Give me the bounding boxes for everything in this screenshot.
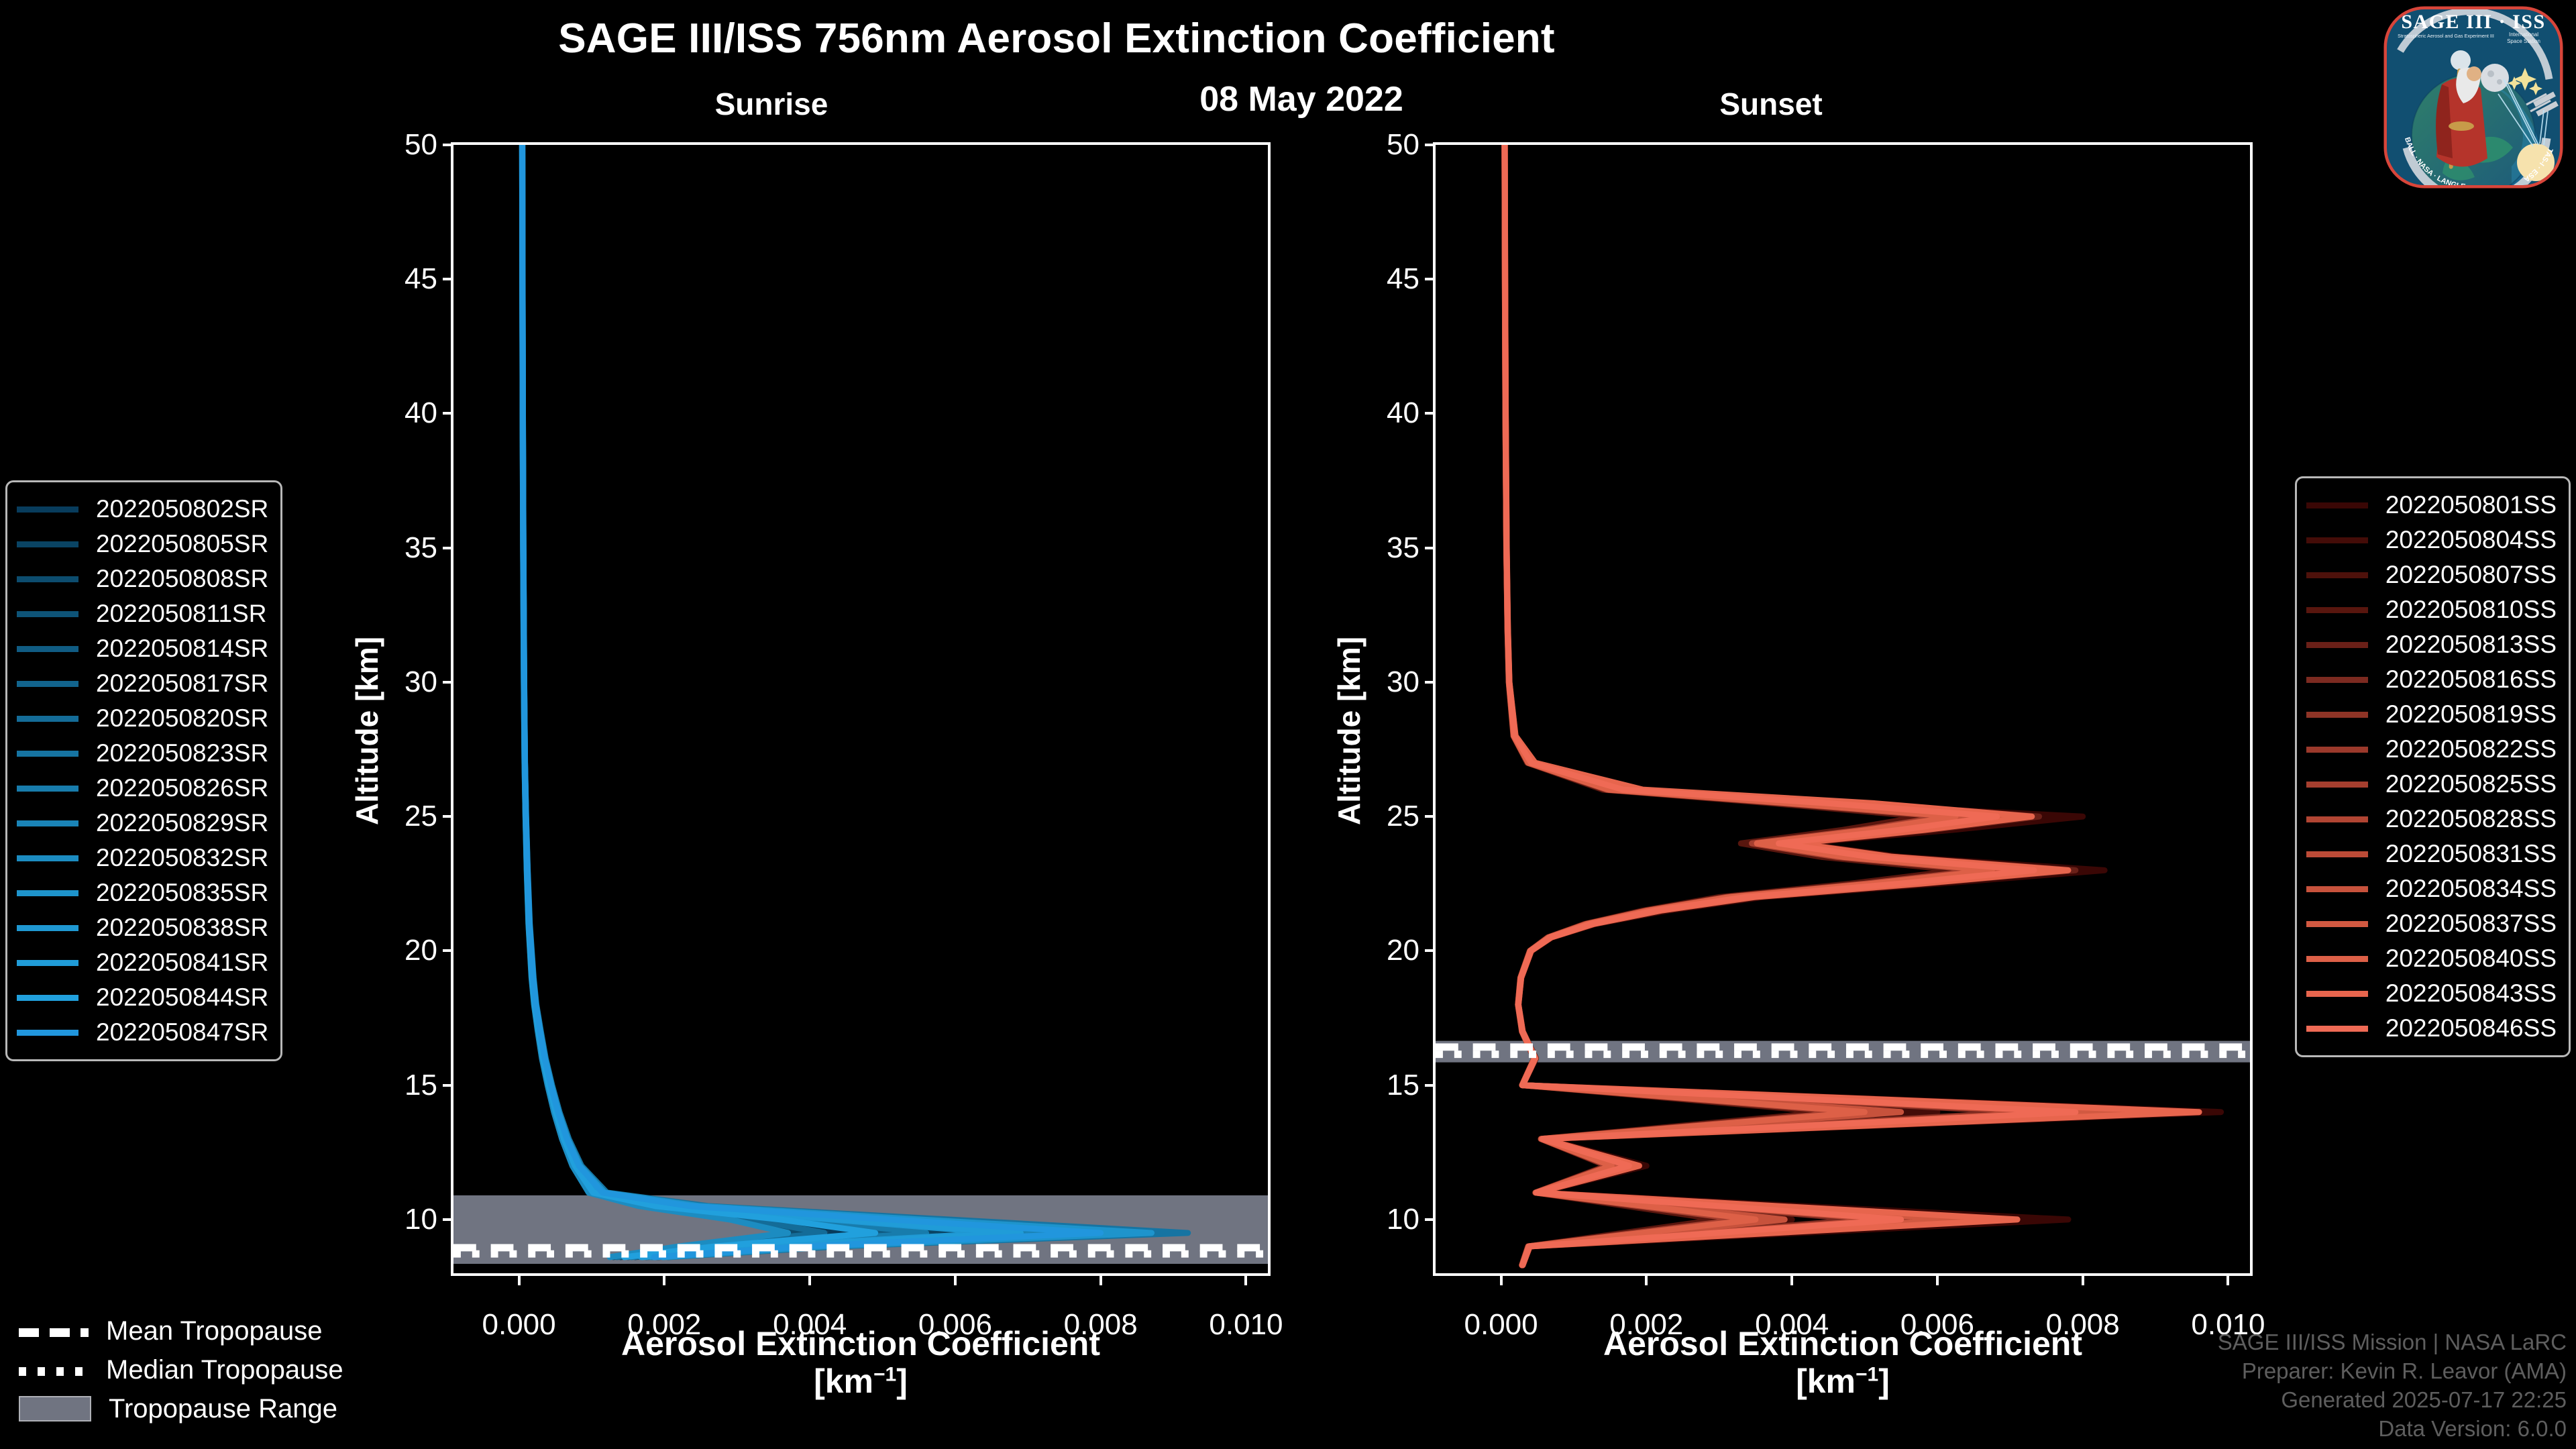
y-axis-tick-mark [443,949,453,952]
legend-color-swatch [2306,747,2368,753]
sunset-y-axis-label: Altitude [km] [1331,637,1367,825]
legend-item[interactable]: 2022050835SR [17,875,268,910]
legend-item-label: 2022050840SS [2385,945,2557,973]
legend-item[interactable]: 2022050843SS [2306,976,2557,1011]
legend-item-label: 2022050807SS [2385,561,2557,589]
sunset-series-legend: 2022050801SS2022050804SS2022050807SS2022… [2295,476,2571,1057]
legend-item-label: 2022050804SS [2385,526,2557,554]
profile-line [522,145,853,1257]
legend-color-swatch [17,855,78,861]
y-axis-tick-mark [443,1084,453,1087]
tropopause-legend-label: Mean Tropopause [106,1316,322,1346]
legend-item-label: 2022050816SS [2385,665,2557,694]
legend-color-swatch [2306,712,2368,718]
legend-color-swatch [2306,537,2368,543]
x-axis-tick-mark [954,1273,957,1285]
y-axis-tick-mark [1425,144,1436,146]
legend-color-swatch [2306,782,2368,788]
legend-item[interactable]: 2022050840SS [2306,941,2557,976]
logo-subtitle-right-1: International [2509,32,2538,38]
legend-item-label: 2022050801SS [2385,491,2557,519]
sunrise-y-axis-label: Altitude [km] [349,637,385,825]
credit-line: Data Version: 6.0.0 [2218,1415,2567,1444]
profile-line [522,145,802,1257]
sunrise-x-axis-title: Aerosol Extinction Coefficient [621,1325,1100,1362]
legend-item[interactable]: 2022050808SR [17,561,268,596]
tropopause-legend-item: Mean Tropopause [19,1311,343,1350]
legend-color-swatch [17,820,78,826]
legend-color-swatch [2306,677,2368,683]
x-axis-tick-mark [1244,1273,1247,1285]
legend-item-label: 2022050829SR [96,809,268,837]
tropopause-legend-label: Median Tropopause [106,1355,343,1385]
sunrise-plot-panel: 1015202530354045500.0000.0020.0040.0060.… [451,142,1271,1276]
legend-item-label: 2022050847SR [96,1018,268,1046]
sunset-x-axis-title: Aerosol Extinction Coefficient [1603,1325,2082,1362]
legend-item[interactable]: 2022050820SR [17,701,268,736]
profile-line [522,145,875,1257]
profile-line [522,145,897,1257]
legend-item-label: 2022050826SR [96,774,268,802]
profile-line [523,145,970,1257]
legend-item[interactable]: 2022050807SS [2306,557,2557,592]
legend-color-swatch [17,506,78,513]
legend-item-label: 2022050819SS [2385,700,2557,729]
legend-item-label: 2022050838SR [96,914,268,942]
legend-item[interactable]: 2022050826SR [17,771,268,806]
x-axis-tick-mark [518,1273,521,1285]
legend-color-swatch [17,716,78,722]
legend-color-swatch [2306,851,2368,857]
sunset-plot-area [1436,145,2250,1273]
logo-subtitle-right-2: Space Station [2507,38,2540,44]
legend-color-swatch [17,960,78,966]
tropopause-legend-item: Median Tropopause [19,1350,343,1389]
legend-color-swatch [2306,921,2368,927]
legend-item-label: 2022050828SS [2385,805,2557,833]
sunset-x-axis-label: Aerosol Extinction Coefficient [km−1] [1433,1325,2253,1400]
legend-item[interactable]: 2022050838SR [17,910,268,945]
legend-color-swatch [17,890,78,896]
legend-color-swatch [17,646,78,652]
legend-item[interactable]: 2022050825SS [2306,767,2557,802]
legend-color-swatch [17,751,78,757]
y-axis-tick-mark [1425,278,1436,280]
legend-item[interactable]: 2022050816SS [2306,662,2557,697]
x-axis-tick-mark [2082,1273,2084,1285]
legend-item-label: 2022050810SS [2385,596,2557,624]
legend-item[interactable]: 2022050822SS [2306,732,2557,767]
profile-line [1505,145,2199,1265]
legend-item[interactable]: 2022050804SS [2306,523,2557,557]
y-axis-tick-mark [1425,949,1436,952]
mean-tropopause-dash-icon [19,1328,89,1337]
legend-item-label: 2022050814SR [96,635,268,663]
sunrise-x-axis-unit: [km−1] [451,1362,1271,1400]
y-axis-tick-mark [443,547,453,549]
legend-item-label: 2022050837SS [2385,910,2557,938]
profile-line [523,145,1079,1257]
x-axis-tick-mark [1790,1273,1793,1285]
x-axis-tick-mark [663,1273,665,1285]
y-axis-tick-mark [443,1218,453,1221]
legend-item-label: 2022050822SS [2385,735,2557,763]
profile-line [523,145,1021,1257]
legend-item[interactable]: 2022050828SS [2306,802,2557,837]
y-axis-tick-mark [1425,815,1436,818]
y-axis-tick-mark [443,681,453,684]
legend-item-label: 2022050831SS [2385,840,2557,868]
legend-item[interactable]: 2022050837SS [2306,906,2557,941]
profile-line [522,145,999,1257]
x-axis-tick-mark [1500,1273,1503,1285]
y-axis-tick-mark [1425,412,1436,415]
legend-color-swatch [2306,956,2368,962]
profile-line [1505,145,2076,1265]
legend-color-swatch [2306,816,2368,822]
legend-color-swatch [17,786,78,792]
profile-line [523,145,1116,1257]
legend-item-label: 2022050835SR [96,879,268,907]
legend-item[interactable]: 2022050844SR [17,980,268,1015]
legend-item-label: 2022050813SS [2385,631,2557,659]
legend-item-label: 2022050820SR [96,704,268,733]
legend-item-label: 2022050841SR [96,949,268,977]
legend-color-swatch [2306,886,2368,892]
legend-item[interactable]: 2022050817SR [17,666,268,701]
tropopause-legend-item: Tropopause Range [19,1389,343,1428]
x-axis-tick-mark [1645,1273,1648,1285]
legend-item[interactable]: 2022050802SR [17,492,268,527]
legend-item[interactable]: 2022050819SS [2306,697,2557,732]
legend-color-swatch [17,681,78,687]
legend-item-label: 2022050844SR [96,983,268,1012]
credit-line: SAGE III/ISS Mission | NASA LaRC [2218,1328,2567,1357]
y-axis-tick-mark [443,144,453,146]
y-axis-tick-mark [1425,681,1436,684]
legend-item-label: 2022050843SS [2385,979,2557,1008]
legend-color-swatch [17,611,78,617]
legend-item-label: 2022050802SR [96,495,268,523]
x-axis-tick-mark [1099,1273,1102,1285]
legend-item[interactable]: 2022050801SS [2306,488,2557,523]
sunrise-x-axis-label: Aerosol Extinction Coefficient [km−1] [451,1325,1271,1400]
legend-color-swatch [2306,642,2368,648]
legend-color-swatch [17,925,78,931]
date-subtitle: 08 May 2022 [1046,79,1556,119]
legend-item[interactable]: 2022050832SR [17,841,268,875]
y-axis-tick-mark [1425,1218,1436,1221]
legend-color-swatch [2306,607,2368,613]
profile-line [522,145,926,1257]
y-axis-tick-mark [1425,1084,1436,1087]
legend-color-swatch [2306,572,2368,578]
legend-item[interactable]: 2022050810SS [2306,592,2557,627]
legend-item-label: 2022050811SR [96,600,266,628]
sunset-x-axis-unit: [km−1] [1433,1362,2253,1400]
x-axis-tick-mark [2226,1273,2229,1285]
y-axis-tick-mark [443,412,453,415]
sunrise-plot-area [453,145,1268,1273]
median-tropopause-dot-icon [19,1367,89,1376]
logo-subtitle-left: Stratospheric Aerosol and Gas Experiment… [2398,33,2494,39]
x-axis-tick-mark [808,1273,811,1285]
credits-block: SAGE III/ISS Mission | NASA LaRCPreparer… [2218,1328,2567,1444]
legend-item-label: 2022050817SR [96,669,268,698]
x-axis-tick-mark [1936,1273,1939,1285]
credit-line: Generated 2025-07-17 22:25 [2218,1386,2567,1415]
tropopause-range-band-icon [19,1396,91,1421]
legend-item[interactable]: 2022050831SS [2306,837,2557,871]
y-axis-tick-mark [1425,547,1436,549]
profile-line [522,145,788,1257]
legend-item[interactable]: 2022050829SR [17,806,268,841]
legend-item-label: 2022050823SR [96,739,268,767]
legend-item[interactable]: 2022050846SS [2306,1011,2557,1046]
legend-item[interactable]: 2022050813SS [2306,627,2557,662]
sunset-panel-label: Sunset [1603,86,1939,122]
legend-item[interactable]: 2022050814SR [17,631,268,666]
legend-item[interactable]: 2022050811SR [17,596,268,631]
legend-item-label: 2022050825SS [2385,770,2557,798]
y-axis-tick-mark [443,278,453,280]
legend-item-label: 2022050834SS [2385,875,2557,903]
profile-line [523,145,1101,1257]
page-title: SAGE III/ISS 756nm Aerosol Extinction Co… [0,15,2113,62]
legend-item[interactable]: 2022050841SR [17,945,268,980]
tropopause-legend-label: Tropopause Range [109,1394,337,1424]
profile-line [522,145,824,1257]
legend-item-label: 2022050832SR [96,844,268,872]
legend-item[interactable]: 2022050823SR [17,736,268,771]
legend-item[interactable]: 2022050805SR [17,527,268,561]
legend-item-label: 2022050808SR [96,565,268,593]
sunrise-series-legend: 2022050802SR2022050805SR2022050808SR2022… [5,480,282,1061]
sunrise-panel-label: Sunrise [604,86,939,122]
logo-title: SAGE III · ISS [2401,11,2545,33]
credit-line: Preparer: Kevin R. Leavor (AMA) [2218,1357,2567,1386]
profile-line [523,145,1188,1257]
sage-iii-iss-mission-patch-logo: SAGE III · ISS Stratospheric Aerosol and… [2380,4,2567,191]
legend-color-swatch [2306,502,2368,508]
legend-color-swatch [2306,991,2368,997]
profile-line [523,145,1152,1257]
legend-color-swatch [17,1030,78,1036]
sunset-plot-panel: 1015202530354045500.0000.0020.0040.0060.… [1433,142,2253,1276]
legend-color-swatch [2306,1026,2368,1032]
legend-item[interactable]: 2022050834SS [2306,871,2557,906]
y-axis-tick-mark [443,815,453,818]
legend-item[interactable]: 2022050847SR [17,1015,268,1050]
legend-color-swatch [17,995,78,1001]
profile-line [523,145,1050,1257]
legend-item-label: 2022050846SS [2385,1014,2557,1042]
legend-color-swatch [17,576,78,582]
legend-item-label: 2022050805SR [96,530,268,558]
legend-color-swatch [17,541,78,547]
tropopause-legend: Mean TropopauseMedian TropopauseTropopau… [19,1311,343,1428]
